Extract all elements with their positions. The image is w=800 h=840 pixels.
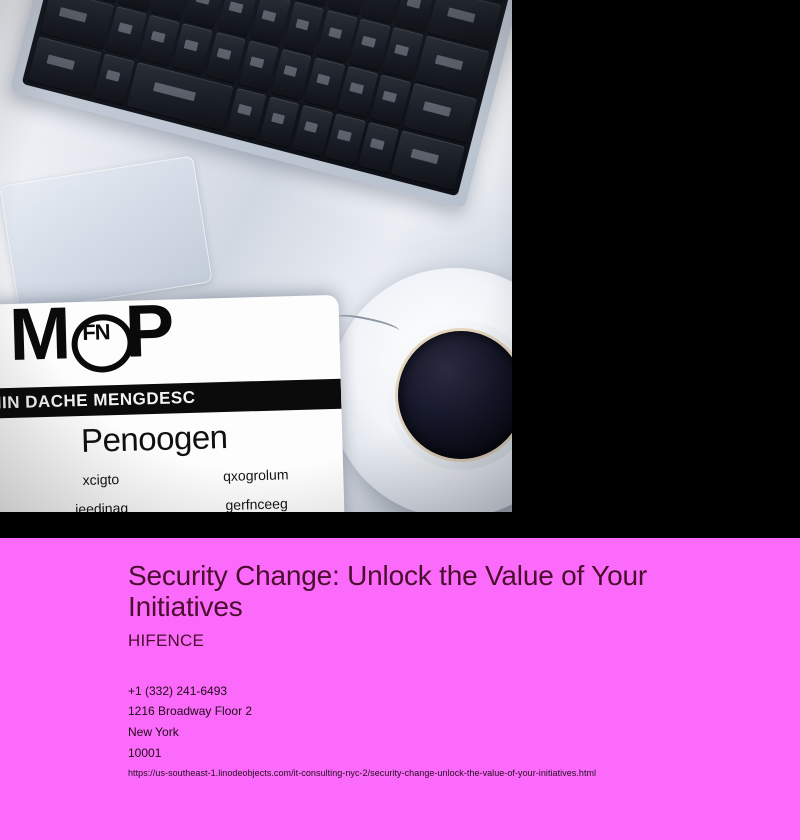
contact-block: +1 (332) 241-6493 1216 Broadway Floor 2 … [128, 681, 760, 779]
brand-name: HIFENCE [128, 631, 760, 651]
card-word: xcigto [23, 469, 178, 489]
printed-card: MFNP HIN DACHE MENGDESC Penoogen xcigto … [0, 295, 346, 512]
contact-zip: 10001 [128, 743, 760, 764]
card-word-columns: xcigto qxogrolum ieedinag gerfnceeg ocon… [23, 465, 336, 512]
card-heading: Penoogen [0, 415, 343, 463]
laptop-deck: MFNP HIN DACHE MENGDESC Penoogen xcigto … [0, 0, 512, 512]
coffee-surface [398, 331, 512, 459]
card-logo-mark-text: FN [69, 321, 124, 344]
card-word: qxogrolum [178, 465, 333, 485]
page-root: MFNP HIN DACHE MENGDESC Penoogen xcigto … [0, 0, 800, 840]
page-title: Security Change: Unlock the Value of You… [128, 560, 688, 623]
hero-image: MFNP HIN DACHE MENGDESC Penoogen xcigto … [0, 0, 512, 512]
card-logo-left: M [8, 295, 70, 376]
contact-city: New York [128, 722, 760, 743]
card-word: ieedinag [24, 498, 179, 512]
card-logo: MFNP [8, 295, 173, 372]
content-inner: Security Change: Unlock the Value of You… [128, 560, 760, 778]
cup-rim [386, 320, 512, 470]
page-url[interactable]: https://us-southeast-1.linodeobjects.com… [128, 768, 760, 778]
content-panel: Security Change: Unlock the Value of You… [0, 538, 800, 840]
card-logo-mark-icon: FN [68, 311, 125, 365]
card-word: gerfnceeg [179, 494, 334, 512]
contact-street: 1216 Broadway Floor 2 [128, 701, 760, 722]
contact-phone[interactable]: +1 (332) 241-6493 [128, 681, 760, 702]
card-banner: HIN DACHE MENGDESC [0, 379, 341, 419]
